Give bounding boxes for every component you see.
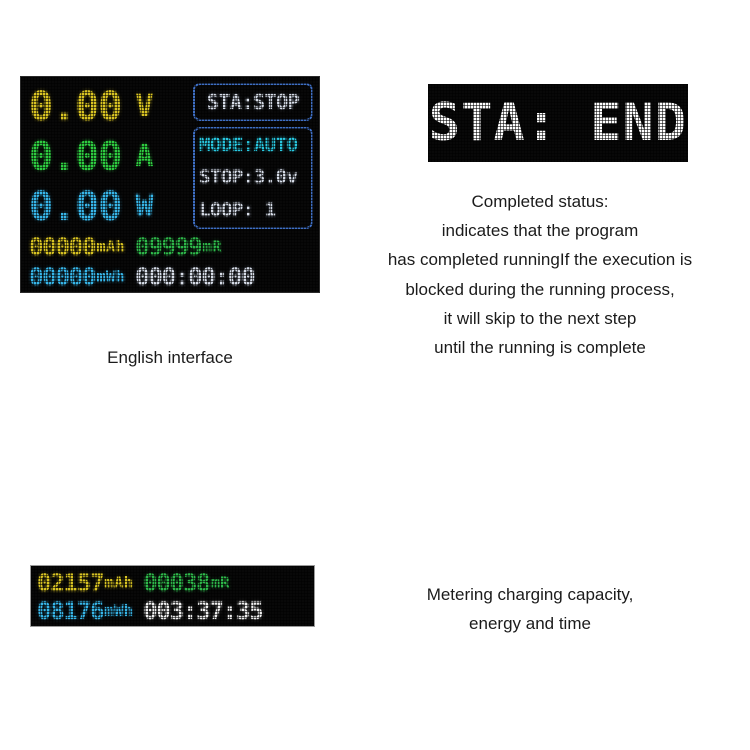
status-description-line-3: has completed runningIf the execution is: [333, 245, 747, 274]
metering-energy-unit: mWh: [104, 603, 133, 619]
capacity-resistance-row: 00000 mAh 09999 mR: [29, 233, 317, 261]
current-value: 0.00: [29, 137, 121, 177]
status-description-line-1: Completed status:: [333, 187, 747, 216]
metering-lcd-display: 02157 mAh 00038 mR 08176 mWh 003:37:35: [30, 565, 315, 627]
resistance-unit: mR: [202, 239, 221, 255]
mode-line: MODE:AUTO: [199, 136, 311, 155]
energy-value: 00000: [29, 265, 95, 289]
metering-resistance-value: 00038: [143, 571, 209, 595]
capacity-value: 00000: [29, 235, 95, 259]
energy-time-row: 00000 mWh 000:00:00: [29, 263, 317, 291]
current-unit: A: [135, 142, 153, 172]
metering-capacity-unit: mAh: [104, 575, 133, 591]
status-box: STA:STOP: [193, 83, 313, 121]
capacity-unit: mAh: [96, 239, 125, 255]
metering-caption: Metering charging capacity, energy and t…: [370, 580, 690, 638]
loop-count-line: LOOP: 1: [199, 201, 311, 220]
current-reading-row: 0.00 A: [29, 133, 189, 181]
metering-capacity-resistance-row: 02157 mAh 00038 mR: [37, 569, 311, 596]
status-description-caption: Completed status: indicates that the pro…: [333, 187, 747, 362]
voltage-value: 0.00: [29, 87, 121, 127]
settings-box: MODE:AUTO STOP:3.0v LOOP: 1: [193, 127, 313, 229]
status-description-line-5: it will skip to the next step: [333, 304, 747, 333]
voltage-reading-row: 0.00 V: [29, 83, 189, 131]
status-text: STA:STOP: [207, 92, 299, 112]
energy-unit: mWh: [96, 269, 125, 285]
main-lcd-display: 0.00 V 0.00 A 0.00 W STA:STOP MODE:AUTO …: [20, 76, 320, 293]
metering-caption-line-1: Metering charging capacity,: [370, 580, 690, 609]
metering-resistance-unit: mR: [210, 575, 229, 591]
status-description-line-4: blocked during the running process,: [333, 275, 747, 304]
stop-voltage-line: STOP:3.0v: [199, 168, 311, 187]
power-value: 0.00: [29, 187, 121, 227]
resistance-value: 09999: [135, 235, 201, 259]
power-reading-row: 0.00 W: [29, 183, 189, 231]
metering-elapsed-time-value: 003:37:35: [143, 599, 262, 623]
english-interface-caption-line: English interface: [20, 343, 320, 372]
metering-energy-value: 08176: [37, 599, 103, 623]
elapsed-time-value: 000:00:00: [135, 265, 254, 289]
metering-capacity-value: 02157: [37, 571, 103, 595]
power-unit: W: [135, 192, 153, 222]
status-description-line-6: until the running is complete: [333, 333, 747, 362]
metering-caption-line-2: energy and time: [370, 609, 690, 638]
english-interface-caption: English interface: [20, 343, 320, 372]
status-end-text: STA: END: [429, 97, 687, 149]
status-end-banner: STA: END: [428, 84, 688, 162]
voltage-unit: V: [135, 92, 153, 122]
metering-energy-time-row: 08176 mWh 003:37:35: [37, 597, 311, 624]
status-description-line-2: indicates that the program: [333, 216, 747, 245]
